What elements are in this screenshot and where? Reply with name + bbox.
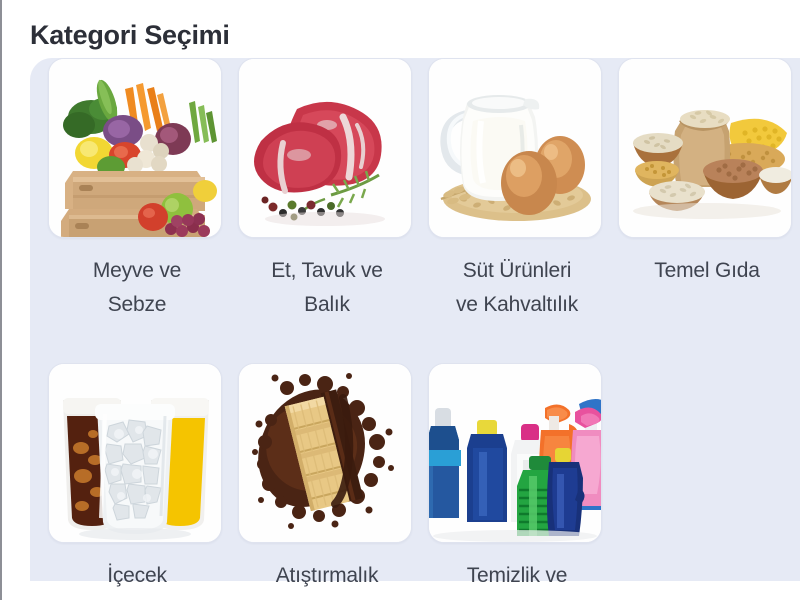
category-label: Temizlik ve <box>428 559 606 593</box>
chocolate-wafer-image <box>239 364 411 542</box>
category-label: Meyve ve Sebze <box>48 254 226 322</box>
category-label-line1: İçecek <box>48 559 226 593</box>
category-label-line1: Temel Gıda <box>618 254 796 288</box>
category-label-line1: Atıştırmalık <box>238 559 416 593</box>
category-item-beverages[interactable]: İçecek <box>48 363 226 593</box>
category-label: Et, Tavuk ve Balık <box>238 254 416 322</box>
category-panel: Meyve ve Sebze <box>30 58 800 581</box>
category-thumbnail[interactable] <box>618 58 792 238</box>
category-item-meat-chicken-fish[interactable]: Et, Tavuk ve Balık <box>238 58 416 322</box>
category-row-2: İçecek <box>30 363 800 600</box>
category-label-line1: Et, Tavuk ve <box>238 254 416 288</box>
cleaning-bottles-image <box>429 364 601 542</box>
category-label: İçecek <box>48 559 226 593</box>
category-label-line2: Sebze <box>48 288 226 322</box>
category-item-dairy-breakfast[interactable]: Süt Ürünleri ve Kahvaltılık <box>428 58 606 322</box>
category-label: Atıştırmalık <box>238 559 416 593</box>
category-item-fruits-vegetables[interactable]: Meyve ve Sebze <box>48 58 226 322</box>
milk-jug-eggs-image <box>429 59 601 237</box>
category-item-cleaning[interactable]: Temizlik ve <box>428 363 606 593</box>
category-thumbnail[interactable] <box>428 363 602 543</box>
category-selection-screen: Kategori Seçimi <box>0 0 800 600</box>
category-label: Temel Gıda <box>618 254 796 288</box>
vegetable-crate-image <box>49 59 221 237</box>
category-label-line1: Süt Ürünleri <box>428 254 606 288</box>
category-thumbnail[interactable] <box>48 58 222 238</box>
raw-meat-image <box>239 59 411 237</box>
page-title: Kategori Seçimi <box>30 20 230 51</box>
category-item-snacks[interactable]: Atıştırmalık <box>238 363 416 593</box>
drink-glasses-image <box>49 364 221 542</box>
category-item-basic-food[interactable]: Temel Gıda <box>618 58 796 288</box>
category-thumbnail[interactable] <box>48 363 222 543</box>
grains-legumes-image <box>619 59 791 237</box>
category-thumbnail[interactable] <box>428 58 602 238</box>
category-label: Süt Ürünleri ve Kahvaltılık <box>428 254 606 322</box>
left-edge-rail <box>0 0 2 600</box>
category-row-1: Meyve ve Sebze <box>30 58 800 358</box>
category-thumbnail[interactable] <box>238 363 412 543</box>
category-label-line2: ve Kahvaltılık <box>428 288 606 322</box>
category-label-line1: Temizlik ve <box>428 559 606 593</box>
category-label-line1: Meyve ve <box>48 254 226 288</box>
category-thumbnail[interactable] <box>238 58 412 238</box>
category-label-line2: Balık <box>238 288 416 322</box>
